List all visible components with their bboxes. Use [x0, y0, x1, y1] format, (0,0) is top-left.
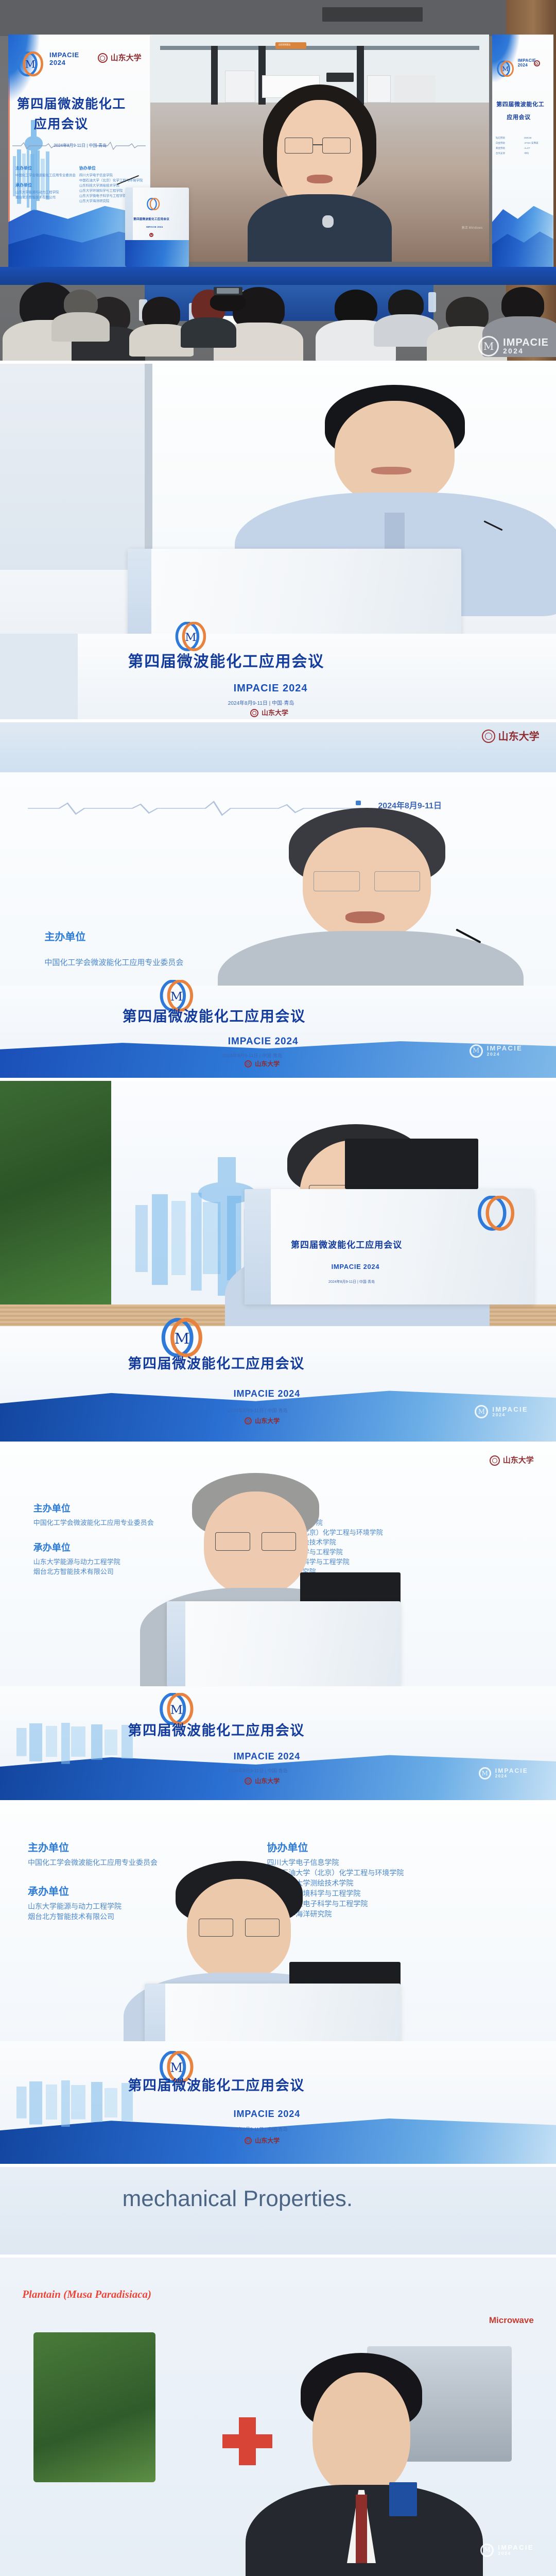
svg-text:M: M: [175, 1330, 189, 1347]
banner-meta: 2024年8月9-11日 | 中国·青岛: [222, 1052, 282, 1059]
audience-photographer: [200, 287, 256, 324]
photo-podium-speaker-blue-shirt[interactable]: M 第四届微波能化工应用会议 IMPACIE 2024 2024年8月9-11日…: [0, 364, 556, 719]
banner-meta: 2024年8月9-11日 | 中国·青岛: [228, 2126, 288, 2132]
photo-podium-speaker-organizers[interactable]: 山东大学 主办单位 中国化工学会微波能化工应用专业委员会 承办单位 山东大学能源…: [0, 1445, 556, 1800]
plus-sign-icon-bar: [222, 2434, 272, 2448]
laptop-screen: [345, 1139, 478, 1189]
banner-en-title: IMPACIE 2024: [234, 2109, 301, 2120]
banner-en-title: IMPACIE 2024: [234, 1751, 301, 1762]
impacie-logo-icon: M: [155, 1693, 200, 1725]
impacie-logo-icon-right: M: [497, 56, 515, 82]
slide-title: Plantain (Musa Paradisiaca): [22, 2288, 151, 2301]
banner-meta: 2024年8月9-11日 | 中国·青岛: [228, 699, 294, 706]
shandong-university-logo: 山东大学: [250, 709, 288, 717]
led-panel-right: M IMPACIE 2024 第四届微波能化工 应用会议 钻石赞助 DMCBI …: [492, 35, 553, 273]
banner-title-right-2: 应用会议: [507, 114, 531, 121]
banner-cn-title: 第四届微波能化工应用会议: [128, 1723, 304, 1740]
svg-text:M: M: [185, 631, 196, 644]
banner-meta: 2024年8月9-11日 | 中国·青岛: [54, 143, 107, 148]
speaker-badge: [389, 2482, 417, 2516]
main-video-screen[interactable]: 远程视频报告 激活 Windows: [150, 35, 490, 262]
banner-cn-title: 第四届微波能化工应用会议: [128, 653, 324, 672]
audience-crowd: [0, 238, 556, 361]
podium-subtitle: IMPACIE 2024: [146, 226, 163, 228]
banner-title-right-1: 第四届微波能化工: [496, 101, 544, 108]
podium-front: [167, 1601, 401, 1687]
banner-cn-title: 第四届微波能化工应用会议: [128, 2078, 304, 2095]
photo-slide-mechanical[interactable]: mechanical Properties.: [0, 2167, 556, 2255]
banner-en-title: IMPACIE 2024: [234, 683, 308, 694]
host-block: 主办单位 中国化工学会微波能化工应用专业委员会 承办单位 山东大学能源与动力工程…: [15, 165, 72, 199]
impacie-logo-icon: M: [155, 980, 200, 1011]
screen-label: 远程视频报告: [279, 43, 291, 46]
photo-auditorium-wide[interactable]: M IMPACIE 2024 山东大学 第四届微波能化工 应用会议 2024年8…: [0, 0, 556, 361]
remote-speaker: [255, 84, 384, 262]
slide-right-label: Microwave: [489, 2315, 534, 2326]
hall-ceiling: [0, 0, 556, 36]
conference-photo-gallery: M IMPACIE 2024 山东大学 第四届微波能化工 应用会议 2024年8…: [0, 0, 556, 2576]
impacie-logo-icon: M: [17, 48, 45, 79]
photo-podium-speaker-coorganizers[interactable]: 主办单位 中国化工学会微波能化工应用专业委员会 承办单位 山东大学能源与动力工程…: [0, 1803, 556, 2164]
banner-cn-title: 第四届微波能化工应用会议: [123, 1008, 306, 1025]
impacie-logo-icon: M: [167, 622, 217, 651]
banner-meta: 2024年8月9-11日 | 中国·青岛: [228, 1407, 288, 1414]
svg-text:M: M: [25, 59, 36, 71]
activate-windows-watermark: 激活 Windows: [462, 225, 483, 230]
shandong-university-logo: 山东大学: [482, 730, 540, 743]
impacie-logo-icon: [476, 1196, 519, 1230]
slide-heading: mechanical Properties.: [123, 2186, 353, 2212]
photo-podium-speaker-mic[interactable]: 2024年8月9-11日 山东大学 主办单位 中国化工学会微波能化工应用专业委员…: [0, 722, 556, 1078]
host-label: 主办单位: [44, 928, 85, 943]
svg-text:M: M: [170, 2060, 183, 2075]
speaker-portrait: [289, 2353, 434, 2576]
banner-title-line2: 应用会议: [34, 116, 89, 132]
banner-en-title: IMPACIE 2024: [228, 1036, 299, 1047]
podium-meta: 2024年8月9-11日 | 中国·青岛: [328, 1279, 375, 1284]
svg-text:M: M: [170, 989, 183, 1004]
banner-en-title: IMPACIE 2024: [234, 1388, 301, 1399]
sponsor-logo-grid: 钻石赞助 DMCBI 白金赞助 AFWA 安弗森 黄金赞助 ALST 合作支持 …: [496, 137, 550, 155]
podium-cn-title: 第四届微波能化工应用会议: [291, 1240, 402, 1251]
lower-led-banner: M 第四届微波能化工应用会议 IMPACIE 2024 2024年8月9-11日…: [0, 634, 556, 719]
speaker-portrait: [278, 808, 456, 1007]
shandong-university-logo-right: [534, 60, 540, 66]
watermark-text: IMPACIE 2024: [503, 338, 549, 355]
ceiling-projector: [322, 7, 422, 22]
svg-text:M: M: [502, 65, 509, 73]
led-wave-strip: [0, 722, 556, 772]
watermark: M IMPACIE 2024: [478, 336, 549, 357]
svg-text:M: M: [170, 1703, 183, 1717]
banner-meta: 2024年8月9-11日 | 中国·青岛: [228, 1767, 288, 1774]
banner-title-line1: 第四届微波能化工: [17, 96, 126, 112]
banner-cn-title: 第四届微波能化工应用会议: [128, 1356, 304, 1373]
host-item: 中国化工学会微波能化工应用专业委员会: [44, 957, 183, 968]
shandong-university-logo: 山东大学: [98, 53, 142, 63]
shandong-university-logo: 山东大学: [490, 1455, 534, 1466]
lower-led-banner: M 第四届微波能化工应用会议 IMPACIE 2024 2024年8月9-11日…: [0, 1686, 556, 1800]
impacie-logo-icon: M: [161, 1317, 205, 1359]
podium-title: 第四届微波能化工应用会议: [133, 218, 169, 222]
lower-led-banner: M 第四届微波能化工应用会议 IMPACIE 2024 2024年8月9-11日…: [0, 986, 556, 1078]
photo-podium-speaker-glasses-plants[interactable]: 第四届微波能化工应用会议 IMPACIE 2024 2024年8月9-11日 |…: [0, 1081, 556, 1442]
calendar-icon: [356, 801, 361, 805]
podium-front: 第四届微波能化工应用会议 IMPACIE 2024 2024年8月9-11日 |…: [245, 1189, 534, 1304]
podium-en-title: IMPACIE 2024: [332, 1263, 380, 1270]
decor-plants: [0, 1081, 111, 1304]
impacie-wordmark: IMPACIE 2024: [49, 51, 79, 66]
slide-plant-image: [33, 2332, 156, 2482]
lower-led-banner: M 第四届微波能化工应用会议 IMPACIE 2024 2024年8月9-11日…: [0, 1326, 556, 1442]
lower-led-banner: M 第四届微波能化工应用会议 IMPACIE 2024 2024年8月9-11日…: [0, 2041, 556, 2164]
photo-slide-plantain[interactable]: Plantain (Musa Paradisiaca) Microwave M …: [0, 2258, 556, 2576]
led-panel-edge: [0, 364, 145, 570]
